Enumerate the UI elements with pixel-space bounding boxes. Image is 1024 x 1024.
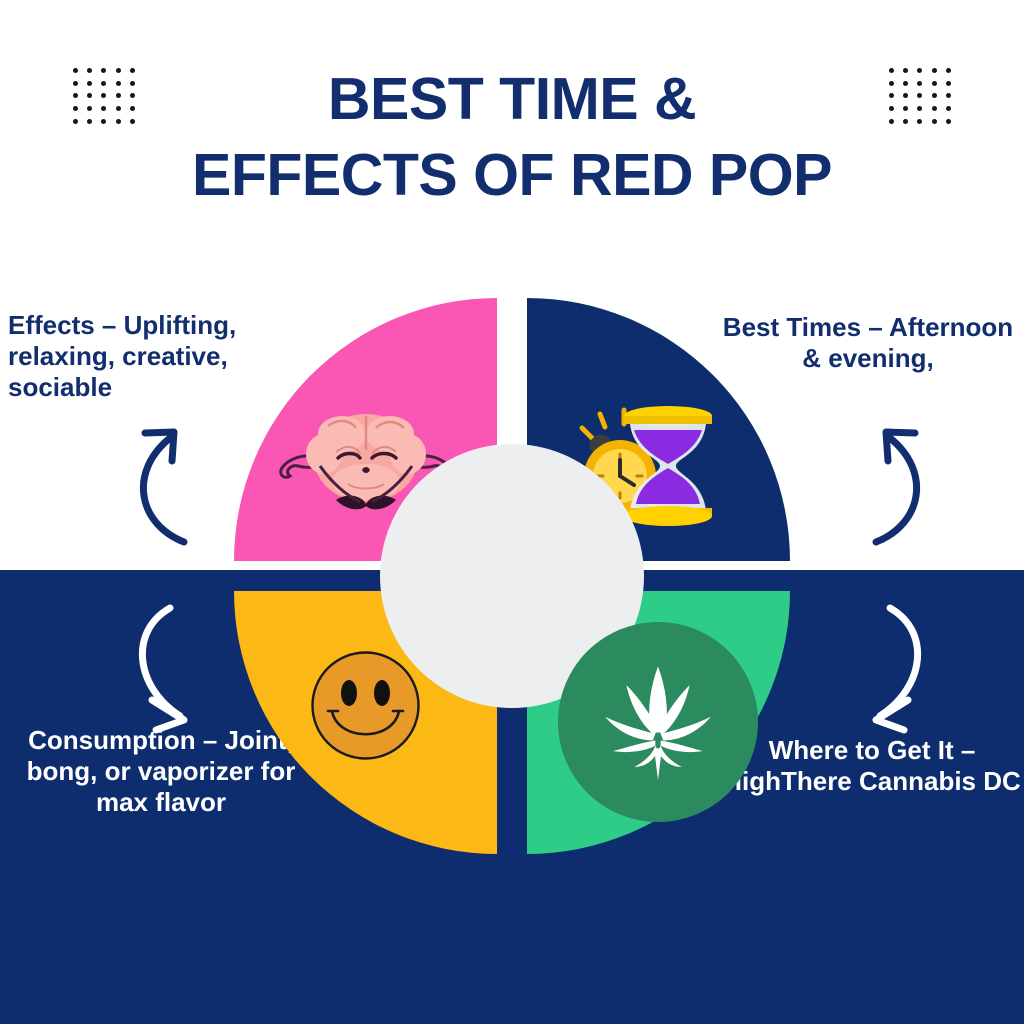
page-title: BEST TIME & EFFECTS OF RED POP: [0, 62, 1024, 213]
curved-arrow-down-left-icon: [818, 592, 948, 737]
page-title-line-2: EFFECTS OF RED POP: [0, 138, 1024, 214]
curved-arrow-up-left-icon: [818, 420, 948, 565]
page-title-line-1: BEST TIME &: [0, 62, 1024, 138]
curved-arrow-up-right-icon: [112, 420, 242, 565]
hub-ring: [380, 444, 644, 708]
smiley-face-icon: [308, 648, 423, 763]
hub-logo-circle[interactable]: [558, 622, 758, 822]
curved-arrow-down-right-icon: [112, 592, 242, 737]
quadrant-wheel: [234, 298, 790, 854]
cannabis-leaf-icon: [592, 656, 724, 788]
